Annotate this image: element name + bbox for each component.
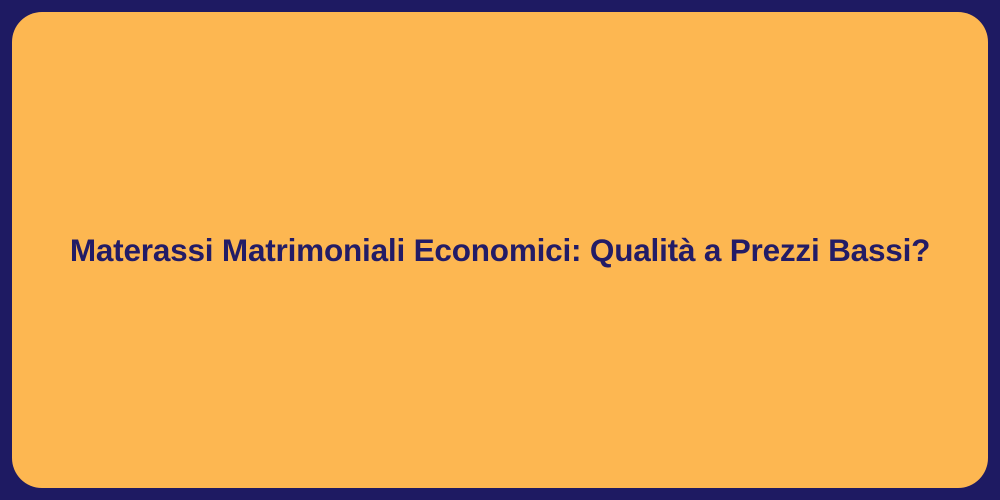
- page-title: Materassi Matrimoniali Economici: Qualit…: [12, 231, 988, 270]
- banner-container: Materassi Matrimoniali Economici: Qualit…: [0, 0, 1000, 500]
- headline-card-panel: Materassi Matrimoniali Economici: Qualit…: [12, 12, 988, 488]
